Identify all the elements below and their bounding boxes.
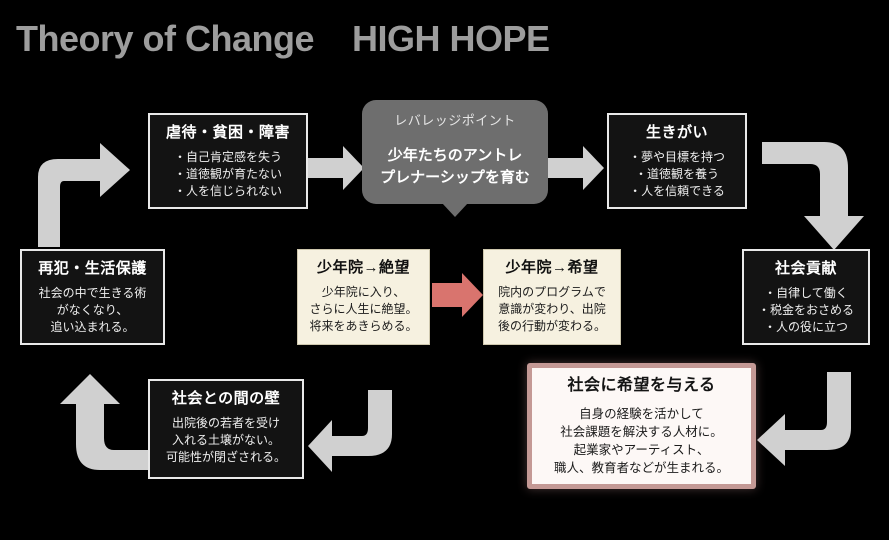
node-line: 意識が変わり、出院 [488,301,616,318]
node-give-hope-to-society[interactable]: 社会に希望を与える 自身の経験を活かして 社会課題を解決する人材に。 起業家やア… [527,363,756,489]
bubble-pointer-down-icon [442,203,468,217]
node-line: 後の行動が変わる。 [488,318,616,335]
node-line: 将来をあきらめる。 [302,318,425,335]
node-body: 少年院に入り、 さらに人生に絶望。 将来をあきらめる。 [302,284,425,336]
node-title: 少年院→希望 [488,258,616,278]
arrow-bubble-to-ikigai [545,145,605,191]
node-title: 少年院→絶望 [302,258,425,278]
node-recidivism-welfare[interactable]: 再犯・生活保護 社会の中で生きる術 がなくなり、 追い込まれる。 [20,249,165,345]
node-line: ・税金をおさめる [748,302,864,319]
node-body: ・自己肯定感を失う ・道徳観が育たない ・人を信じられない [154,149,302,201]
arrow-givehope-to-wall [306,390,416,480]
node-body: 出院後の若者を受け 入れる土壌がない。 可能性が閉ざされる。 [154,415,298,467]
node-body: ・自律して働く ・税金をおさめる ・人の役に立つ [748,285,864,337]
node-ikigai[interactable]: 生きがい ・夢や目標を持つ ・道徳観を養う ・人を信頼できる [607,113,747,209]
node-line: ・人を信じられない [154,183,302,200]
page-title: Theory of Change HIGH HOPE [16,18,550,60]
node-body: 社会の中で生きる術 がなくなり、 追い込まれる。 [26,285,159,337]
arrow-abuse-to-bubble [305,145,365,191]
node-reformatory-hope[interactable]: 少年院→希望 院内のプログラムで 意識が変わり、出院 後の行動が変わる。 [483,249,621,345]
node-title: 社会との間の壁 [154,389,298,409]
arrow-right-bottom-left [755,372,875,482]
node-line: 社会課題を解決する人材に。 [536,423,747,441]
node-abuse-poverty-disability[interactable]: 虐待・貧困・障害 ・自己肯定感を失う ・道徳観が育たない ・人を信じられない [148,113,308,209]
node-line: ・自律して働く [748,285,864,302]
node-line: ・夢や目標を持つ [613,149,741,166]
bubble-kicker: レバレッジポイント [372,110,538,129]
arrow-right-top-down [762,136,882,256]
node-reformatory-despair[interactable]: 少年院→絶望 少年院に入り、 さらに人生に絶望。 将来をあきらめる。 [297,249,430,345]
node-title: 生きがい [613,123,741,143]
node-body: ・夢や目標を持つ ・道徳観を養う ・人を信頼できる [613,149,741,201]
node-title: 社会貢献 [748,259,864,279]
slide-canvas: Theory of Change HIGH HOPE [0,0,889,540]
node-title: 社会に希望を与える [536,376,747,397]
bubble-main-text: 少年たちのアントレ プレナーシップを育む [372,145,538,189]
node-line: 起業家やアーティスト、 [536,441,747,459]
node-line: ・道徳観が育たない [154,166,302,183]
node-social-contribution[interactable]: 社会貢献 ・自律して働く ・税金をおさめる ・人の役に立つ [742,249,870,345]
node-line: ・道徳観を養う [613,166,741,183]
node-line: 職人、教育者などが生まれる。 [536,459,747,477]
node-line: さらに人生に絶望。 [302,301,425,318]
node-line: 院内のプログラムで [488,284,616,301]
node-line: 自身の経験を活かして [536,405,747,423]
node-line: 少年院に入り、 [302,284,425,301]
node-line: 追い込まれる。 [26,319,159,336]
node-line: がなくなり、 [26,302,159,319]
node-body: 院内のプログラムで 意識が変わり、出院 後の行動が変わる。 [488,284,616,336]
node-body: 自身の経験を活かして 社会課題を解決する人材に。 起業家やアーティスト、 職人、… [536,405,747,478]
node-line: 入れる土壌がない。 [154,432,298,449]
node-line: 出院後の若者を受け [154,415,298,432]
node-line: 可能性が閉ざされる。 [154,449,298,466]
arrow-despair-to-hope [432,272,484,318]
node-title: 虐待・貧困・障害 [154,123,302,143]
node-line: 社会の中で生きる術 [26,285,159,302]
arrow-left-up-right [8,137,138,247]
bubble-line: プレナーシップを育む [372,167,538,189]
node-line: ・人の役に立つ [748,319,864,336]
node-line: ・人を信頼できる [613,183,741,200]
leverage-point-bubble[interactable]: レバレッジポイント 少年たちのアントレ プレナーシップを育む [362,100,548,204]
arrow-bottom-left-up [52,372,162,482]
node-title: 再犯・生活保護 [26,259,159,279]
node-line: ・自己肯定感を失う [154,149,302,166]
bubble-line: 少年たちのアントレ [372,145,538,167]
node-wall-with-society[interactable]: 社会との間の壁 出院後の若者を受け 入れる土壌がない。 可能性が閉ざされる。 [148,379,304,479]
